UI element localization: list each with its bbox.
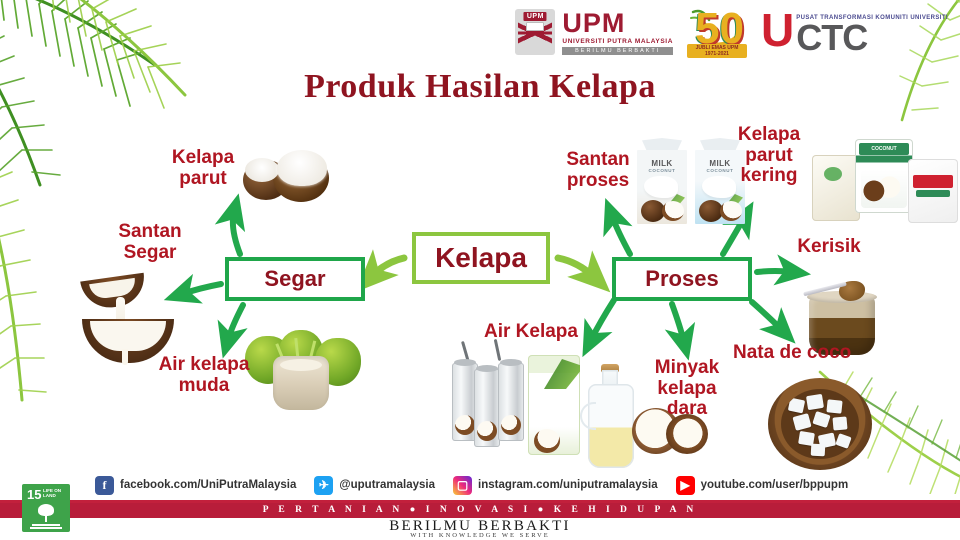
nata-cube xyxy=(835,433,851,449)
facebook-url: facebook.com/UniPutraMalaysia xyxy=(120,479,296,491)
can-coconut-graphic-1 xyxy=(455,415,475,435)
header-logos: UPM UPM UNIVERSITI PUTRA MALAYSIA BERILM… xyxy=(515,6,948,58)
motto-sub: WITH KNOWLEDGE WE SERVE xyxy=(0,532,960,539)
coconut-water-cans-image xyxy=(452,355,584,461)
instagram-icon: ▢ xyxy=(453,476,472,495)
footer-motto: BERILMU BERBAKTI WITH KNOWLEDGE WE SERVE xyxy=(0,518,960,540)
carton-splash-1 xyxy=(644,176,678,198)
tree-icon xyxy=(35,504,57,524)
pack-green-label xyxy=(916,190,950,197)
coconut-water-bottle xyxy=(528,355,580,455)
uctc-ctc-letters: CTC xyxy=(796,24,948,53)
sdg-number: 15 xyxy=(27,488,41,501)
milk-drip xyxy=(122,349,128,365)
footer-tagline: P E R T A N I A N ● I N O V A S I ● K E … xyxy=(0,503,960,518)
uctc-text-block: PUSAT TRANSFORMASI KOMUNITI UNIVERSITI C… xyxy=(796,11,948,52)
bottle-handle xyxy=(580,402,596,430)
label-nata-de-coco: Nata de coco xyxy=(733,343,851,364)
coconut-pack-3 xyxy=(908,159,958,223)
coconut-half-open-2 xyxy=(666,414,708,454)
pack-brand-band: COCONUT xyxy=(859,143,909,155)
carton-coconut-half-2 xyxy=(720,201,742,221)
carton-coconut-half-1 xyxy=(662,201,684,221)
upm-crest-book-icon xyxy=(526,22,544,31)
bottle-coconut-graphic xyxy=(534,429,560,453)
nata-cube xyxy=(826,399,842,413)
social-facebook[interactable]: f facebook.com/UniPutraMalaysia xyxy=(95,476,296,495)
instagram-url: instagram.com/uniputramalaysia xyxy=(478,479,658,491)
social-instagram[interactable]: ▢ instagram.com/uniputramalaysia xyxy=(453,476,658,495)
social-youtube[interactable]: ▶ youtube.com/user/bppupm xyxy=(676,476,849,495)
facebook-icon: f xyxy=(95,476,114,495)
upm-crest-icon: UPM xyxy=(515,9,555,55)
nata-cube xyxy=(811,444,826,457)
pack-label-1 xyxy=(824,167,842,181)
bowl-interior xyxy=(781,389,859,459)
nata-cube xyxy=(806,394,824,410)
coconut-water-can-3 xyxy=(498,363,524,441)
jubli-badge: JUBLI EMAS UPM 1971-2021 xyxy=(687,44,747,59)
node-proses[interactable]: Proses xyxy=(612,257,752,301)
upm-tagline: BERILMU BERBAKTI xyxy=(562,47,673,55)
upm-wordmark: UPM UNIVERSITI PUTRA MALAYSIA BERILMU BE… xyxy=(562,10,673,55)
upm-subtitle: UNIVERSITI PUTRA MALAYSIA xyxy=(562,38,673,45)
label-santan-segar: Santan Segar xyxy=(108,222,192,263)
youtube-icon: ▶ xyxy=(676,476,695,495)
label-minyak-kelapa-dara: Minyak kelapa dara xyxy=(635,358,739,420)
young-coconuts-image xyxy=(245,330,363,412)
social-media-bar: f facebook.com/UniPutraMalaysia ✈ @uputr… xyxy=(0,470,960,500)
youtube-url: youtube.com/user/bppupm xyxy=(701,479,849,491)
infographic-canvas: UPM UPM UNIVERSITI PUTRA MALAYSIA BERILM… xyxy=(0,0,960,540)
page-title: Produk Hasilan Kelapa xyxy=(0,68,960,106)
grated-coconut-pile-left xyxy=(245,158,279,182)
grated-coconut-bowl-image xyxy=(243,146,329,208)
label-kelapa-parut-kering: Kelapa parut kering xyxy=(728,125,810,187)
bottle-label xyxy=(534,393,574,421)
nata-cube xyxy=(832,416,847,430)
upm-name: UPM xyxy=(562,10,673,37)
nata-cube xyxy=(788,398,805,414)
cut-coconut-front xyxy=(273,356,329,410)
label-kerisik: Kerisik xyxy=(790,237,868,258)
label-air-kelapa-muda: Air kelapa muda xyxy=(156,355,252,396)
upm-logo: UPM UPM UNIVERSITI PUTRA MALAYSIA BERILM… xyxy=(515,9,673,55)
can-coconut-graphic-3 xyxy=(501,415,521,435)
sdg-ground-line-1 xyxy=(32,524,60,526)
coconut-milk-pour-image xyxy=(76,275,180,365)
sdg-badge: 15 LIFE ON LAND xyxy=(22,484,70,532)
carton-body-1: MILKCOCONUT xyxy=(637,150,687,224)
pack-coconut-picture xyxy=(861,170,907,208)
label-kelapa-parut: Kelapa parut xyxy=(160,148,246,189)
pack-red-label xyxy=(913,175,953,188)
node-segar-label: Segar xyxy=(264,266,325,292)
can-lid-3 xyxy=(500,359,522,366)
desiccated-coconut-packs-image: COCONUT xyxy=(812,137,958,225)
node-proses-label: Proses xyxy=(645,266,718,292)
social-twitter[interactable]: ✈ @uputramalaysia xyxy=(314,476,435,495)
uctc-logo: U PUSAT TRANSFORMASI KOMUNITI UNIVERSITI… xyxy=(761,11,948,52)
bottle-palm-leaf xyxy=(544,359,580,389)
twitter-handle: @uputramalaysia xyxy=(339,479,435,491)
coconut-pack-1 xyxy=(812,155,860,221)
twitter-icon: ✈ xyxy=(314,476,333,495)
label-santan-proses: Santan proses xyxy=(560,150,636,191)
nata-cube xyxy=(812,411,830,428)
can-coconut-graphic-2 xyxy=(477,421,497,441)
can-lid-1 xyxy=(454,359,476,366)
coconut-water-can-2 xyxy=(474,369,500,447)
nata-de-coco-bowl-image xyxy=(768,378,872,470)
node-kelapa[interactable]: Kelapa xyxy=(412,232,550,284)
carton-brand-1: MILKCOCONUT xyxy=(637,159,687,173)
label-air-kelapa: Air Kelapa xyxy=(484,322,578,343)
grated-coconut-pile-right xyxy=(277,150,327,186)
jubli-emas-logo: 50 JUBLI EMAS UPM 1971-2021 xyxy=(687,6,747,58)
tree-trunk xyxy=(45,514,47,522)
can-lid-2 xyxy=(476,365,498,372)
nata-cube xyxy=(792,413,811,431)
sdg-ground-line-2 xyxy=(30,527,62,529)
node-segar[interactable]: Segar xyxy=(225,257,365,301)
milk-carton-1: MILKCOCONUT xyxy=(637,138,687,224)
coconut-pack-2: COCONUT xyxy=(855,139,913,213)
uctc-u-letter: U xyxy=(761,11,794,51)
upm-crest-text: UPM xyxy=(524,12,547,21)
node-kelapa-label: Kelapa xyxy=(435,242,527,274)
